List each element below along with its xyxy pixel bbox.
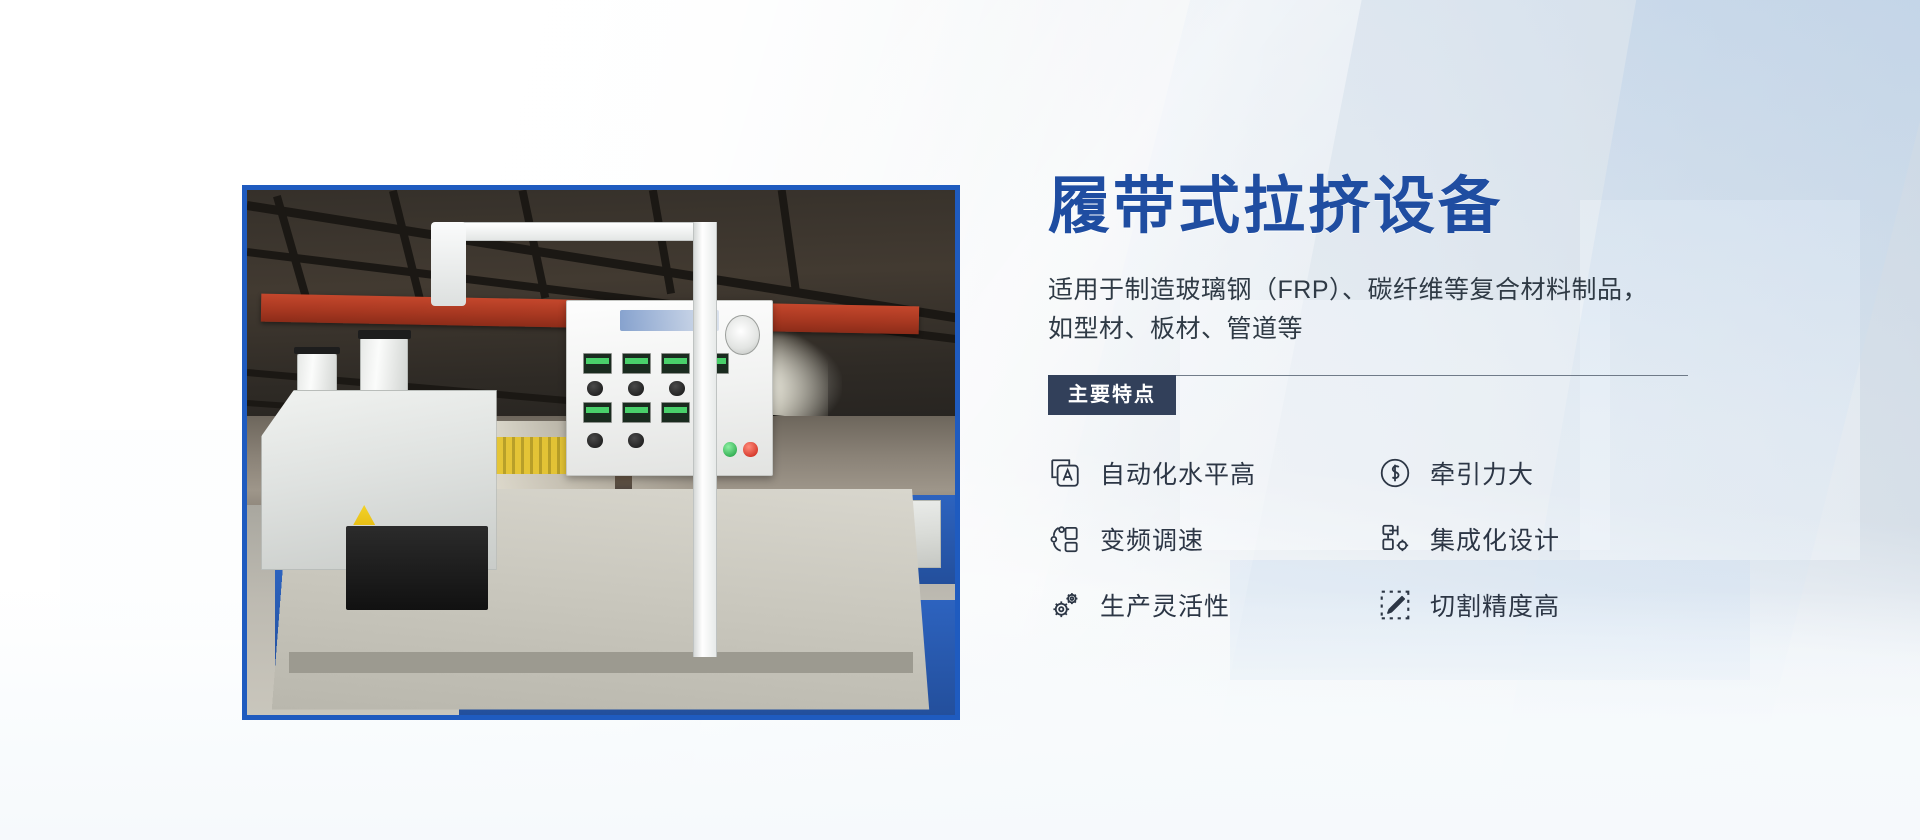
status-badge: 主要特点	[1048, 375, 1176, 415]
hero-content: 履带式拉挤设备 适用于制造玻璃钢（FRP）、碳纤维等复合材料制品，如型材、板材、…	[1048, 172, 1708, 623]
feature-label: 切割精度高	[1430, 587, 1560, 623]
page-title: 履带式拉挤设备	[1048, 172, 1708, 241]
subtitle: 适用于制造玻璃钢（FRP）、碳纤维等复合材料制品，如型材、板材、管道等	[1048, 271, 1648, 349]
panel-meter	[583, 353, 612, 374]
gantry-elbow	[431, 222, 466, 306]
control-panel	[566, 300, 773, 475]
gantry-arm	[435, 222, 706, 242]
gears-icon	[1048, 588, 1082, 622]
feature-item-frequency: 变频调速	[1048, 521, 1378, 557]
panel-knob	[628, 381, 643, 396]
panel-knob	[587, 381, 602, 396]
feature-item-flexibility: 生产灵活性	[1048, 587, 1378, 623]
badge-divider-row: 主要特点	[1048, 375, 1708, 421]
puller-track	[346, 526, 488, 610]
gantry-column	[693, 222, 717, 658]
feature-item-integration: 集成化设计	[1378, 521, 1708, 557]
letter-a-square-icon	[1048, 456, 1082, 490]
feature-item-traction: 牵引力大	[1378, 455, 1708, 491]
feature-label: 集成化设计	[1430, 521, 1560, 557]
panel-meter	[583, 402, 612, 423]
panel-knob	[669, 381, 684, 396]
panel-meter	[622, 353, 651, 374]
panel-indicator-red	[743, 442, 757, 458]
spiral-circle-icon	[1378, 456, 1412, 490]
precision-pen-icon	[1378, 588, 1412, 622]
panel-knob	[628, 433, 643, 448]
feature-list: 自动化水平高 牵引力大	[1048, 455, 1708, 623]
frequency-nodes-icon	[1048, 522, 1082, 556]
product-hero-banner: 履带式拉挤设备 适用于制造玻璃钢（FRP）、碳纤维等复合材料制品，如型材、板材、…	[0, 0, 1920, 840]
conveyor-table-edge	[289, 652, 912, 673]
integration-hierarchy-icon	[1378, 522, 1412, 556]
yellow-rack	[488, 437, 573, 474]
feature-label: 生产灵活性	[1100, 587, 1230, 623]
feature-label: 自动化水平高	[1100, 455, 1256, 491]
panel-meter	[661, 353, 690, 374]
feature-label: 变频调速	[1100, 521, 1204, 557]
feature-item-automation: 自动化水平高	[1048, 455, 1378, 491]
panel-meter	[622, 402, 651, 423]
feature-label: 牵引力大	[1430, 455, 1534, 491]
feature-item-cutting-precision: 切割精度高	[1378, 587, 1708, 623]
panel-gauge	[725, 315, 760, 355]
product-photo-image	[247, 190, 955, 715]
panel-knob	[587, 433, 602, 448]
panel-indicator-green	[723, 442, 737, 458]
product-photo	[242, 185, 960, 720]
panel-meter	[661, 402, 690, 423]
